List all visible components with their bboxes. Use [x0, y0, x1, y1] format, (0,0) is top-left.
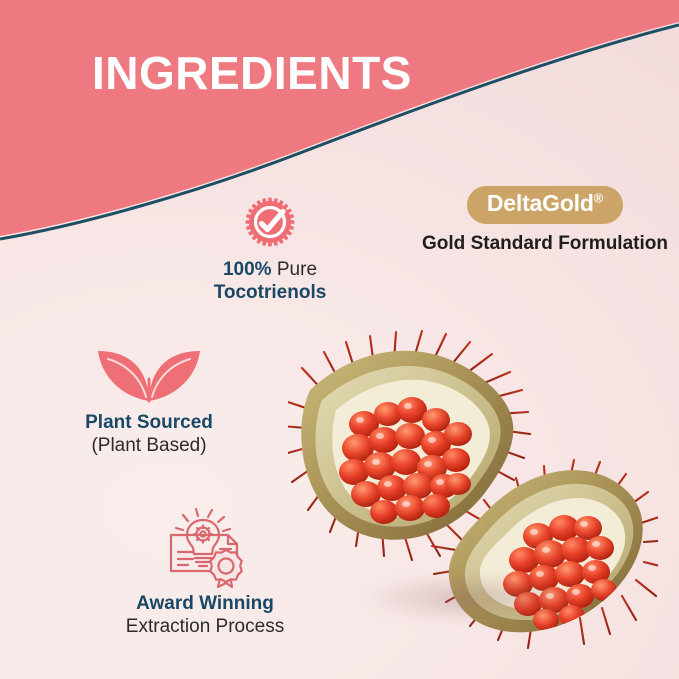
ingredients-infographic: INGREDIENTS DeltaGold® Gold Standard For…	[0, 0, 679, 679]
annatto-seed-pod-photo	[288, 328, 658, 668]
deltagold-badge: DeltaGold®	[467, 186, 623, 224]
deltagold-block: DeltaGold® Gold Standard Formulation	[420, 186, 670, 255]
verified-check-badge-icon	[155, 196, 385, 248]
feature-award-line1: Award Winning	[105, 592, 305, 615]
feature-pure-line1: 100% Pure	[155, 258, 385, 281]
feature-award-winning: Award Winning Extraction Process	[105, 508, 305, 638]
award-certificate-icon	[105, 508, 305, 588]
award-seal	[210, 550, 241, 587]
page-title: INGREDIENTS	[92, 50, 412, 96]
feature-plant-line2: (Plant Based)	[35, 434, 263, 457]
feature-award-line2: Extraction Process	[105, 615, 305, 638]
feature-plant-sourced: Plant Sourced (Plant Based)	[35, 345, 263, 457]
deltagold-label: DeltaGold®	[487, 190, 603, 216]
photo-drop-shadow	[318, 563, 628, 633]
leaves-icon	[35, 345, 263, 405]
leaf-left	[98, 351, 149, 401]
feature-pure-line2: Tocotrienols	[155, 281, 385, 304]
registered-trademark-icon: ®	[594, 190, 603, 205]
feature-pure-tocotrienols: 100% Pure Tocotrienols	[155, 196, 385, 304]
deltagold-subtitle: Gold Standard Formulation	[420, 233, 670, 255]
leaf-right	[149, 351, 200, 401]
feature-plant-line1: Plant Sourced	[35, 411, 263, 434]
